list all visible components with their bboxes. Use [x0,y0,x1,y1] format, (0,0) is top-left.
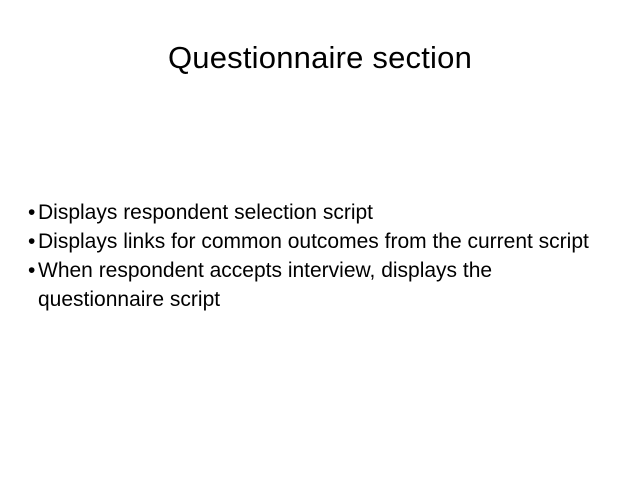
page-title: Questionnaire section [0,38,640,78]
list-item: • When respondent accepts interview, dis… [28,256,608,314]
list-item-label: When respondent accepts interview, displ… [38,259,492,311]
bullet-icon: • [28,256,35,285]
list-item-label: Displays respondent selection script [38,201,373,224]
bullet-list: • Displays respondent selection script •… [28,198,608,314]
list-item: • Displays respondent selection script [28,198,608,227]
bullet-icon: • [28,198,35,227]
bullet-icon: • [28,227,35,256]
slide-body: • Displays respondent selection script •… [28,198,608,314]
list-item: • Displays links for common outcomes fro… [28,227,608,256]
list-item-label: Displays links for common outcomes from … [38,230,589,253]
slide: Questionnaire section • Displays respond… [0,0,640,480]
